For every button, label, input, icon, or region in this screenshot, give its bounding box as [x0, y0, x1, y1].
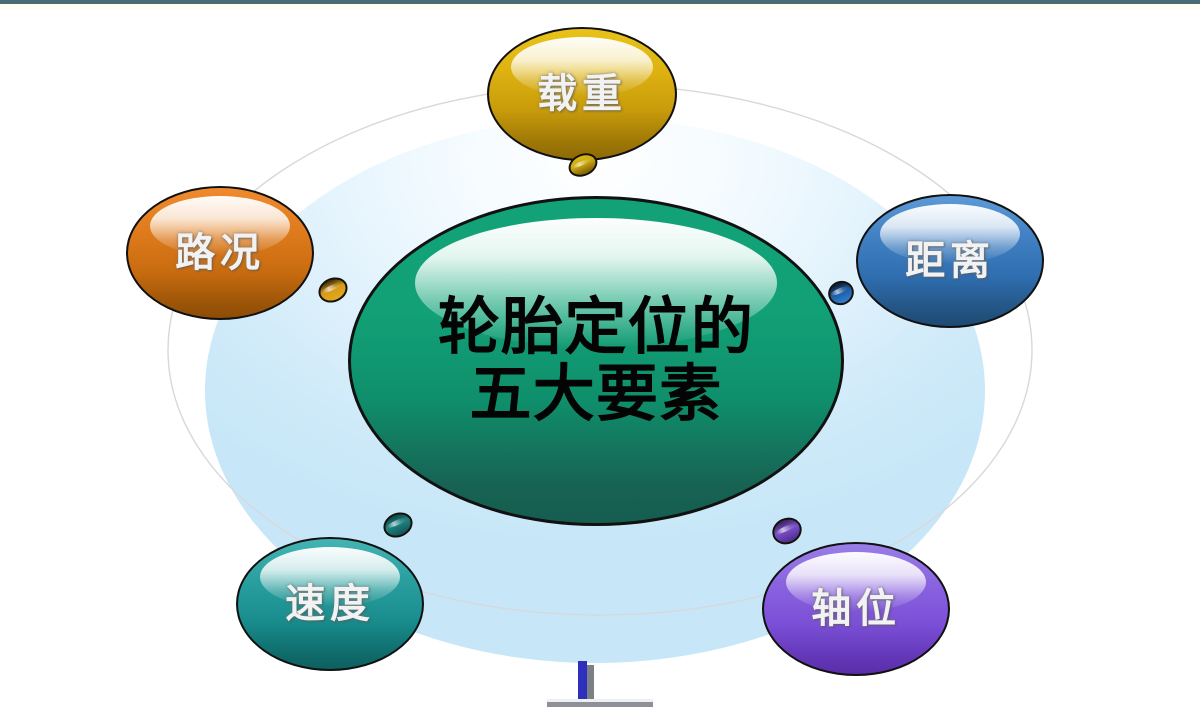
node-distance-label: 距离 [905, 239, 995, 283]
bead-highlight-distance [830, 285, 850, 298]
center-node-label: 轮胎定位的五大要素 [431, 294, 761, 428]
center-node[interactable]: 轮胎定位的五大要素 [348, 196, 844, 526]
bead-highlight-axle [774, 522, 797, 537]
node-distance[interactable]: 距离 [856, 194, 1044, 328]
node-axle-label: 轴位 [811, 587, 901, 631]
node-load[interactable]: 载重 [487, 27, 677, 161]
bead-highlight-load [571, 156, 594, 170]
stand-base [547, 702, 653, 707]
node-load-label: 载重 [537, 72, 627, 116]
node-axle[interactable]: 轴位 [762, 542, 950, 676]
node-speed[interactable]: 速度 [236, 537, 424, 671]
node-speed-label: 速度 [285, 582, 375, 626]
slide-canvas: 轮胎定位的五大要素 载重 路况 距离 速度 轴位 [0, 0, 1200, 713]
node-road-label: 路况 [175, 231, 265, 275]
top-border-accent [0, 4, 1200, 10]
bead-highlight-road [321, 281, 344, 295]
bead-highlight-speed [386, 516, 409, 530]
node-road[interactable]: 路况 [126, 186, 314, 320]
